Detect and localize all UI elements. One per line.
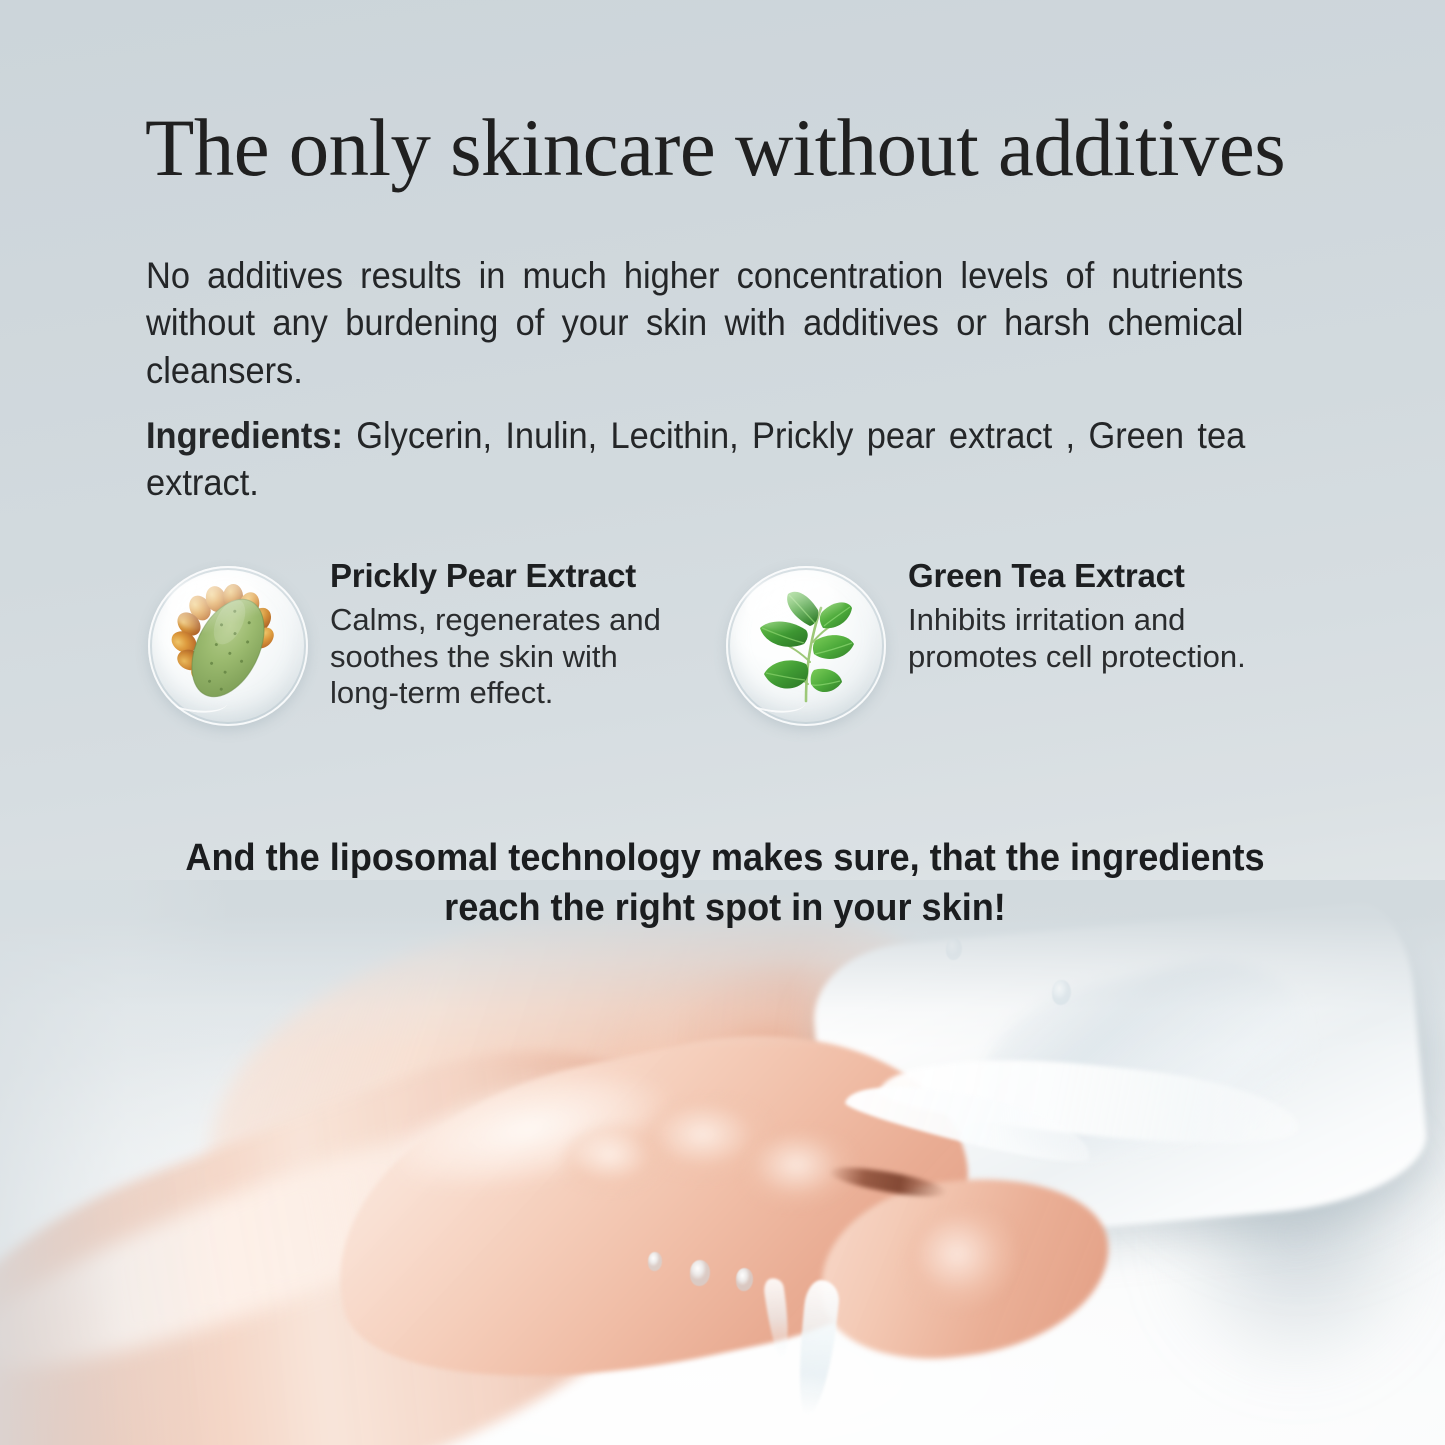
card-text-prickly-pear: Prickly Pear Extract Calms, regenerates … <box>330 556 661 712</box>
body-paragraph: No additives results in much higher conc… <box>146 252 1243 394</box>
tagline: And the liposomal technology makes sure,… <box>141 833 1310 933</box>
ingredient-card-prickly-pear: Prickly Pear Extract Calms, regenerates … <box>148 556 661 726</box>
page-title: The only skincare without additives <box>145 107 1312 189</box>
card-title: Prickly Pear Extract <box>330 558 661 594</box>
card-title: Green Tea Extract <box>908 558 1246 594</box>
green-tea-petri-dish-icon <box>726 566 886 726</box>
prickly-pear-petri-dish-icon <box>148 566 308 726</box>
card-description: Calms, regenerates and soothes the skin … <box>330 602 661 712</box>
hands-photo <box>0 880 1445 1445</box>
ingredients-label: Ingredients: <box>146 415 343 456</box>
marketing-poster: The only skincare without additives No a… <box>0 0 1445 1445</box>
front-hand-fingertip <box>905 1210 1035 1320</box>
body-copy: No additives results in much higher conc… <box>146 252 1243 394</box>
ingredients-line: Ingredients: Glycerin, Inulin, Lecithin,… <box>146 412 1245 507</box>
palm-knuckle-c <box>560 1125 680 1205</box>
card-text-green-tea: Green Tea Extract Inhibits irritation an… <box>908 556 1246 675</box>
card-description: Inhibits irritation and promotes cell pr… <box>908 602 1246 675</box>
ingredient-cards: Prickly Pear Extract Calms, regenerates … <box>148 556 1328 731</box>
ingredient-card-green-tea: Green Tea Extract Inhibits irritation an… <box>726 556 1246 726</box>
